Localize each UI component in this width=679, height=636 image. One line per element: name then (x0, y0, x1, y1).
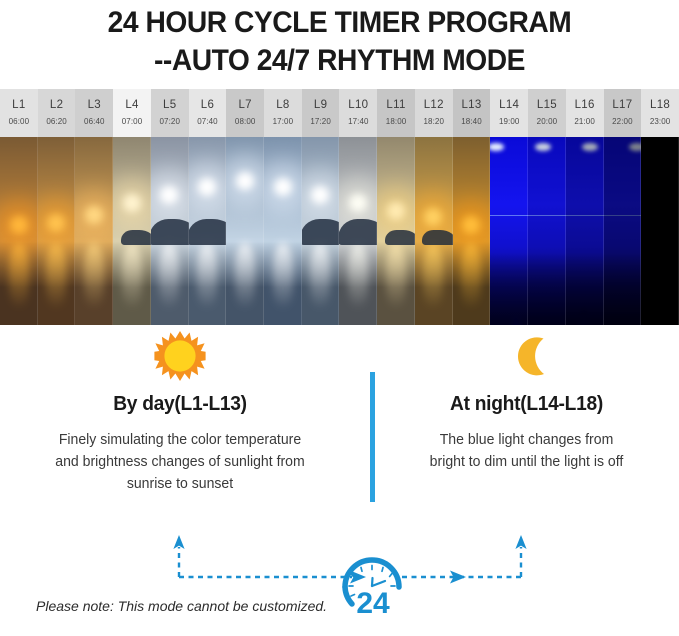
preview-slice-l17 (604, 137, 642, 325)
timeline-time-label: 19:00 (499, 116, 520, 128)
timeline-time-label: 06:20 (46, 116, 67, 128)
timeline-cell-l2[interactable]: L206:20 (38, 89, 76, 137)
night-panel: At night(L14-L18) The blue light changes… (378, 325, 675, 473)
timeline-level-label: L13 (461, 98, 481, 113)
timeline-time-label: 06:00 (9, 116, 30, 128)
timeline-cell-l15[interactable]: L1520:00 (528, 89, 566, 137)
preview-slice-l18 (641, 137, 679, 325)
timeline-time-label: 07:20 (159, 116, 180, 128)
right-up-arrowhead (515, 535, 526, 549)
timeline-level-label: L11 (386, 98, 405, 113)
night-panel-body: The blue light changes from bright to di… (382, 429, 670, 473)
timeline-cell-l11[interactable]: L1118:00 (377, 89, 415, 137)
night-panel-heading: At night(L14-L18) (384, 393, 669, 416)
lighting-preview-strip (0, 137, 679, 325)
timeline-time-label: 18:00 (386, 116, 407, 128)
timeline-level-label: L16 (575, 98, 595, 113)
preview-slice-l4 (113, 137, 151, 325)
preview-slice-l10 (339, 137, 377, 325)
timeline-time-label: 18:20 (424, 116, 445, 128)
timeline-time-label: 08:00 (235, 116, 256, 128)
preview-slice-l9 (302, 137, 340, 325)
title-line-2: --AUTO 24/7 RHYTHM MODE (20, 42, 658, 80)
timeline-cell-l3[interactable]: L306:40 (75, 89, 113, 137)
timeline-level-label: L15 (537, 98, 557, 113)
clock-24-label: 24 (356, 587, 390, 620)
timeline-level-label: L1 (12, 98, 25, 113)
timeline-time-label: 07:00 (122, 116, 143, 128)
day-panel-body: Finely simulating the color temperature … (9, 429, 350, 495)
timeline-cell-l16[interactable]: L1621:00 (566, 89, 604, 137)
preview-slice-l8 (264, 137, 302, 325)
timeline-level-label: L18 (650, 98, 670, 113)
preview-slice-l1 (0, 137, 38, 325)
sun-icon (4, 325, 356, 387)
cycle-diagram: 24 Please note: This mode cannot be cust… (0, 525, 679, 620)
page-title: 24 HOUR CYCLE TIMER PROGRAM --AUTO 24/7 … (0, 0, 679, 80)
timeline-level-label: L7 (238, 98, 251, 113)
preview-slice-l13 (453, 137, 491, 325)
title-line-1: 24 HOUR CYCLE TIMER PROGRAM (20, 4, 658, 42)
timeline-level-label: L3 (88, 98, 101, 113)
timeline-cell-l10[interactable]: L1017:40 (339, 89, 377, 137)
timeline-level-label: L17 (612, 98, 632, 113)
night-body-line: The blue light changes from (382, 429, 670, 451)
timeline-time-label: 06:40 (84, 116, 105, 128)
preview-slice-l12 (415, 137, 453, 325)
timeline-time-label: 17:00 (273, 116, 294, 128)
preview-slice-l14 (490, 137, 528, 325)
left-up-arrowhead (173, 535, 184, 549)
timeline-cell-l8[interactable]: L817:00 (264, 89, 302, 137)
timeline-level-label: L8 (276, 98, 289, 113)
timeline-cell-l13[interactable]: L1318:40 (453, 89, 491, 137)
preview-slice-l15 (528, 137, 566, 325)
preview-slice-l2 (38, 137, 76, 325)
day-panel-heading: By day(L1-L13) (11, 393, 349, 416)
footer-note: Please note: This mode cannot be customi… (36, 598, 327, 614)
timeline-cell-l18[interactable]: L1823:00 (641, 89, 679, 137)
mode-description-panels: By day(L1-L13) Finely simulating the col… (0, 325, 679, 525)
timeline-cell-l9[interactable]: L917:20 (302, 89, 340, 137)
timeline-level-label: L5 (163, 98, 176, 113)
day-body-line: and brightness changes of sunlight from (9, 451, 350, 473)
timeline-level-label: L9 (314, 98, 327, 113)
timeline-cell-l7[interactable]: L708:00 (226, 89, 264, 137)
timeline-level-label: L6 (201, 98, 214, 113)
timeline-cell-l14[interactable]: L1419:00 (490, 89, 528, 137)
panel-divider (370, 372, 375, 502)
timeline-cell-l6[interactable]: L607:40 (189, 89, 227, 137)
preview-slice-l6 (189, 137, 227, 325)
day-panel: By day(L1-L13) Finely simulating the col… (4, 325, 356, 495)
timeline-time-label: 21:00 (574, 116, 595, 128)
timeline-cell-l12[interactable]: L1218:20 (415, 89, 453, 137)
timeline-header: L106:00L206:20L306:40L407:00L507:20L607:… (0, 89, 679, 137)
timeline-cell-l17[interactable]: L1722:00 (604, 89, 642, 137)
timeline-time-label: 17:40 (348, 116, 369, 128)
timeline-cell-l1[interactable]: L106:00 (0, 89, 38, 137)
preview-slice-l5 (151, 137, 189, 325)
timeline-time-label: 17:20 (310, 116, 331, 128)
timeline-level-label: L10 (348, 98, 368, 113)
timeline-cell-l4[interactable]: L407:00 (113, 89, 151, 137)
timeline-level-label: L4 (125, 98, 138, 113)
timeline-level-label: L12 (424, 98, 444, 113)
moon-icon (378, 325, 675, 387)
day-body-line: Finely simulating the color temperature (9, 429, 350, 451)
timeline-cell-l5[interactable]: L507:20 (151, 89, 189, 137)
preview-slice-l11 (377, 137, 415, 325)
timeline-time-label: 22:00 (612, 116, 633, 128)
timeline-time-label: 07:40 (197, 116, 218, 128)
preview-slice-l3 (75, 137, 113, 325)
timeline-level-label: L2 (50, 98, 63, 113)
timeline-time-label: 23:00 (650, 116, 671, 128)
night-body-line: bright to dim until the light is off (382, 451, 670, 473)
clock-24-icon: 24 (345, 560, 399, 620)
preview-slice-l7 (226, 137, 264, 325)
timeline-time-label: 18:40 (461, 116, 482, 128)
day-body-line: sunrise to sunset (9, 473, 350, 495)
timeline-time-label: 20:00 (537, 116, 558, 128)
timeline-level-label: L14 (499, 98, 519, 113)
preview-slice-l16 (566, 137, 604, 325)
